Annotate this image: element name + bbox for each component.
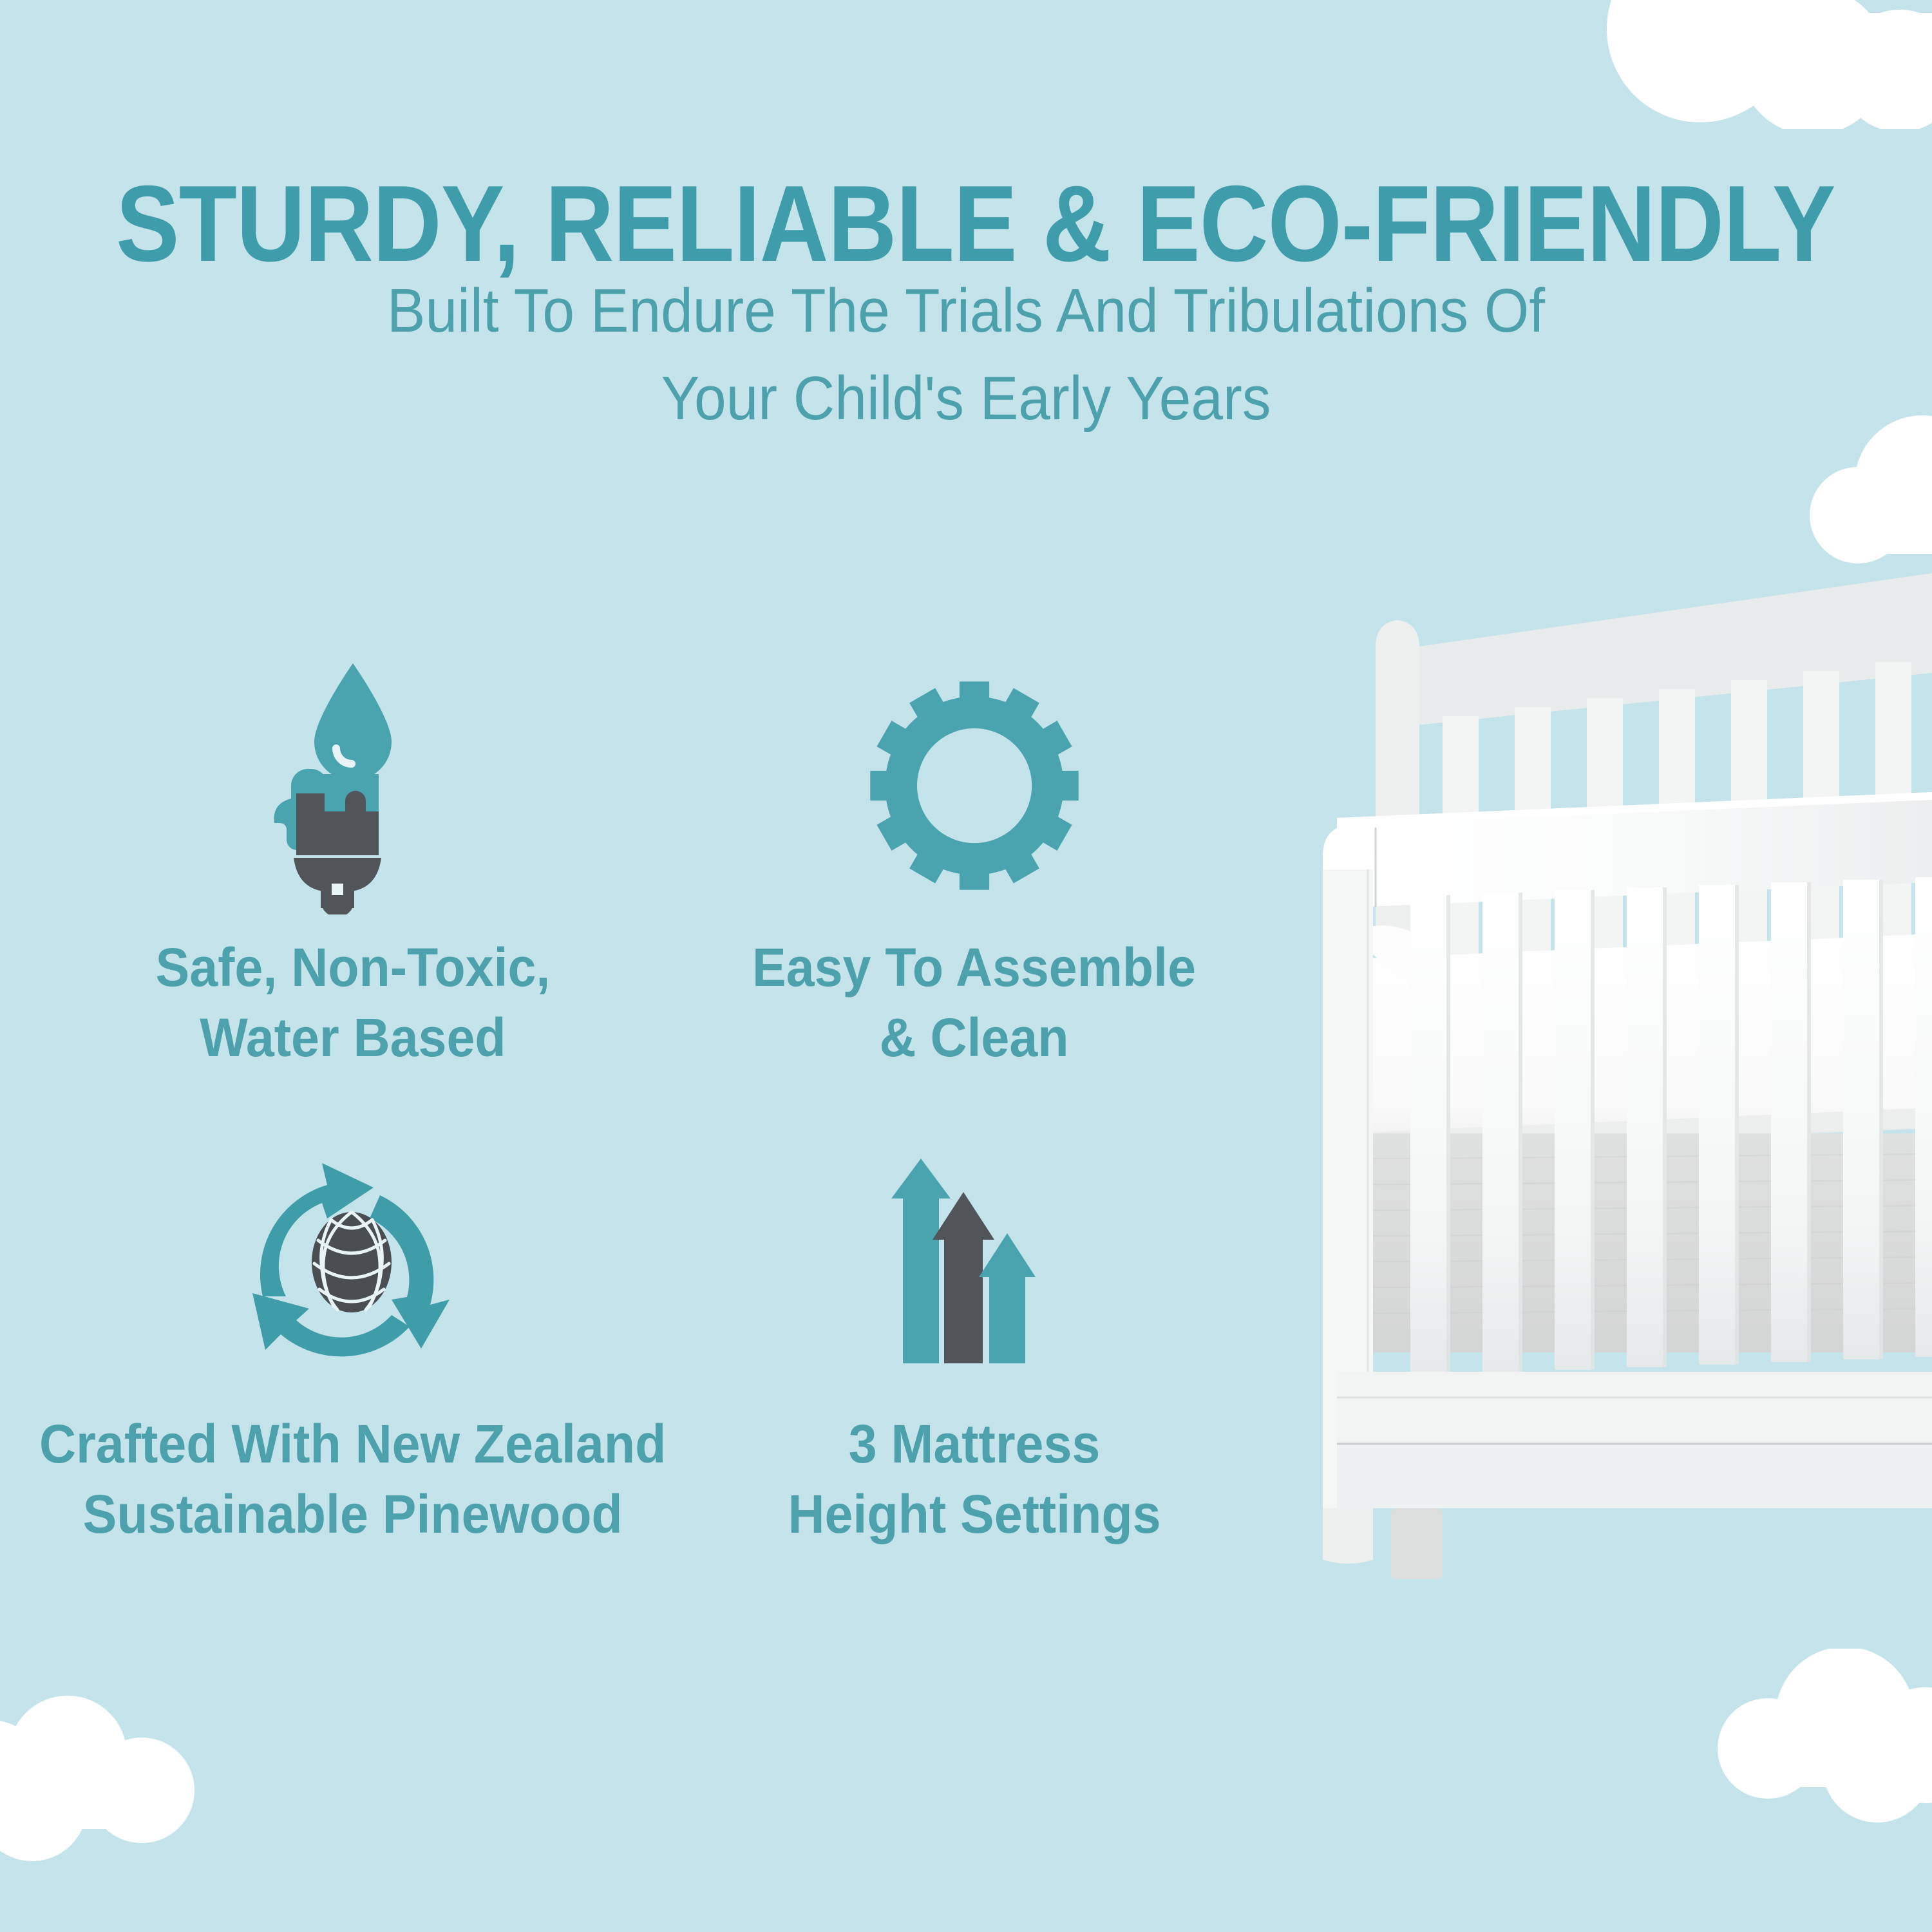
feature-label-2: Easy To Assemble & Clean bbox=[752, 933, 1196, 1073]
subtitle-line-1: Built To Endure The Trials And Tribulati… bbox=[68, 267, 1864, 355]
cloud-top-right-icon bbox=[1597, 0, 1932, 132]
subtitle-line-2: Your Child's Early Years bbox=[68, 355, 1864, 442]
feature-item-easy-assemble: Easy To Assemble & Clean bbox=[686, 657, 1262, 1133]
feature-item-safe-non-toxic: Safe, Non-Toxic, Water Based bbox=[19, 657, 686, 1133]
gear-icon bbox=[868, 657, 1081, 914]
cloud-bottom-left-icon bbox=[0, 1681, 225, 1877]
product-photo-crib bbox=[1314, 535, 1932, 1694]
feature-label-4: 3 Mattress Height Settings bbox=[788, 1409, 1160, 1549]
feature-label-3: Crafted With New Zealand Sustainable Pin… bbox=[39, 1409, 666, 1549]
three-up-arrows-icon bbox=[881, 1133, 1068, 1391]
paint-brush-water-drop-icon bbox=[256, 657, 450, 914]
feature-item-sustainable-pinewood: Crafted With New Zealand Sustainable Pin… bbox=[19, 1133, 686, 1610]
page-subtitle: Built To Endure The Trials And Tribulati… bbox=[68, 267, 1864, 443]
feature-label-1: Safe, Non-Toxic, Water Based bbox=[155, 933, 550, 1073]
page-title: STURDY, RELIABLE & ECO-FRIENDLY bbox=[116, 169, 1816, 278]
recycle-pinecone-icon bbox=[237, 1133, 469, 1391]
feature-item-mattress-heights: 3 Mattress Height Settings bbox=[686, 1133, 1262, 1610]
promo-banner: STURDY, RELIABLE & ECO-FRIENDLY Built To… bbox=[0, 0, 1932, 1932]
feature-grid: Safe, Non-Toxic, Water Based bbox=[19, 657, 1262, 1610]
